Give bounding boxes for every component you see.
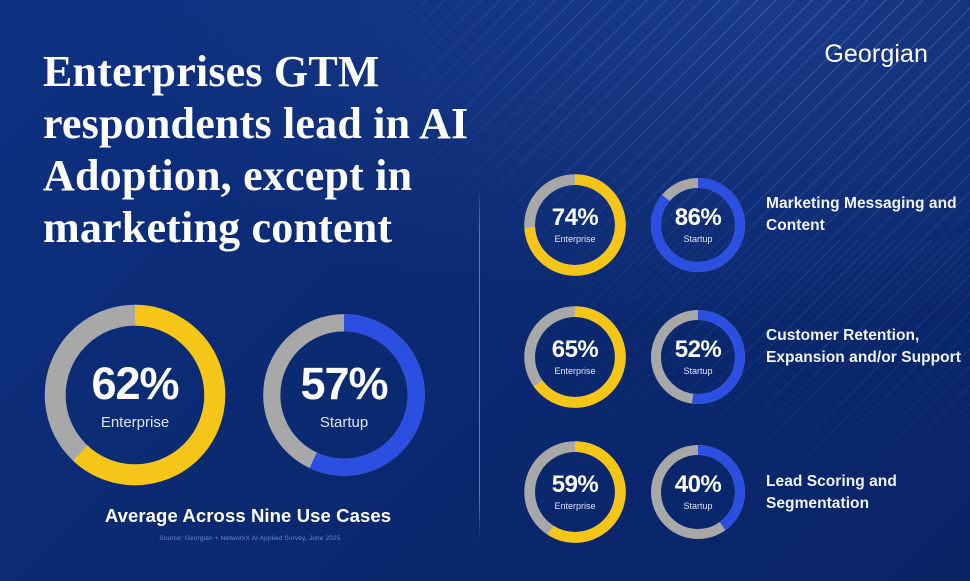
donut-segment-label: Enterprise [554,235,595,244]
row-label-lead-scoring: Lead Scoring and Segmentation [766,471,966,516]
donut-row2-enterprise: 59% Enterprise [519,438,631,546]
donut-row1-startup: 52% Startup [646,307,750,407]
donut-segment-label: Enterprise [101,415,169,430]
donut-value: 62% [91,361,178,406]
georgian-logo: Georgian [824,40,928,69]
donut-segment-label: Enterprise [554,367,595,376]
donut-value: 74% [552,206,599,230]
donut-row2-startup: 40% Startup [646,442,750,542]
donut-average-enterprise: 62% Enterprise [40,300,230,490]
donut-value: 57% [300,361,387,406]
donut-average-startup: 57% Startup [253,309,435,481]
donut-row0-enterprise: 74% Enterprise [519,171,631,279]
summary-caption: Average Across Nine Use Cases [83,505,413,527]
slide-canvas: Georgian Enterprises GTM respondents lea… [0,0,970,581]
row-label-marketing: Marketing Messaging and Content [766,193,966,238]
donut-value: 86% [675,206,722,230]
source-note: Source: Georgian + NetworkX AI Applied S… [80,535,420,542]
donut-value: 65% [552,338,599,362]
donut-segment-label: Startup [683,502,712,511]
donut-segment-label: Startup [320,415,368,430]
donut-value: 40% [675,473,722,497]
donut-row1-enterprise: 65% Enterprise [519,303,631,411]
donut-segment-label: Startup [683,367,712,376]
page-title: Enterprises GTM respondents lead in AI A… [43,46,503,254]
donut-value: 59% [552,473,599,497]
donut-segment-label: Enterprise [554,502,595,511]
row-label-customer-retention: Customer Retention, Expansion and/or Sup… [766,325,966,370]
donut-value: 52% [675,338,722,362]
donut-segment-label: Startup [683,235,712,244]
donut-row0-startup: 86% Startup [646,175,750,275]
vertical-divider [479,186,480,540]
